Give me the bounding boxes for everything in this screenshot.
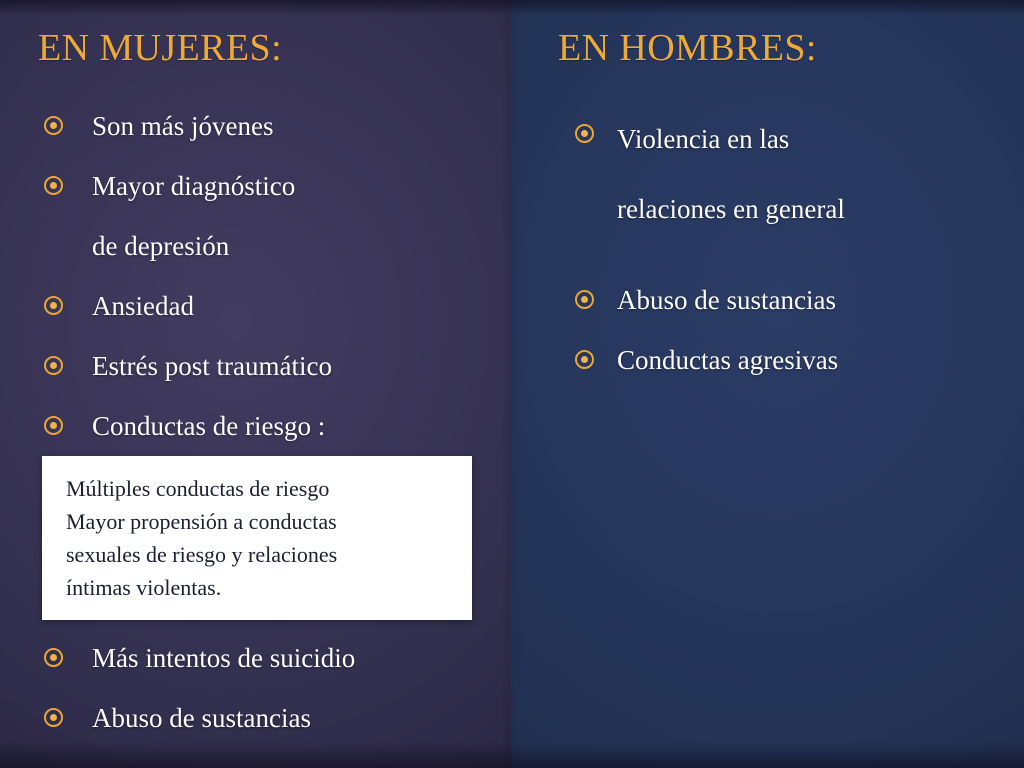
list-item: Abuso de sustancias	[0, 688, 490, 748]
list-item: Violencia en las relaciones en general	[0, 104, 1011, 244]
ring-dot-bullet-icon	[44, 708, 63, 727]
list-item-label: Conductas de riesgo :	[92, 396, 490, 456]
ring-dot-bullet-icon	[575, 290, 594, 309]
ring-dot-bullet-icon	[575, 124, 594, 143]
slide-canvas: EN MUJERES: Son más jóvenes Mayor diagnó…	[0, 0, 1024, 768]
list-item-label: Conductas agresivas	[617, 330, 1011, 390]
ring-dot-bullet-icon	[575, 350, 594, 369]
left-column-heading: EN MUJERES:	[38, 26, 282, 70]
right-bullet-list: Violencia en las relaciones en general A…	[511, 104, 1011, 390]
left-bullet-list-after-callout: Más intentos de suicidio Abuso de sustan…	[0, 628, 490, 748]
slide-content: EN MUJERES: Son más jóvenes Mayor diagnó…	[0, 0, 1024, 768]
list-item-label: Violencia en las	[617, 104, 1011, 174]
list-item: Más intentos de suicidio	[0, 628, 490, 688]
list-item-label-continued: relaciones en general	[617, 194, 845, 224]
callout-line: íntimas violentas.	[66, 571, 452, 604]
right-column-heading: EN HOMBRES:	[558, 26, 817, 70]
ring-dot-bullet-icon	[44, 648, 63, 667]
callout-line: sexuales de riesgo y relaciones	[66, 538, 452, 571]
list-item: Conductas agresivas	[0, 330, 1011, 390]
callout-line: Múltiples conductas de riesgo	[66, 472, 452, 505]
list-item-label: Abuso de sustancias	[617, 270, 1011, 330]
callout-box: Múltiples conductas de riesgo Mayor prop…	[42, 456, 472, 620]
list-item: Abuso de sustancias	[0, 270, 1011, 330]
list-item: Conductas de riesgo :	[0, 396, 490, 456]
list-item-label: Abuso de sustancias	[92, 688, 490, 748]
ring-dot-bullet-icon	[44, 416, 63, 435]
list-item-label: Más intentos de suicidio	[92, 628, 490, 688]
callout-line: Mayor propensión a conductas	[66, 505, 452, 538]
